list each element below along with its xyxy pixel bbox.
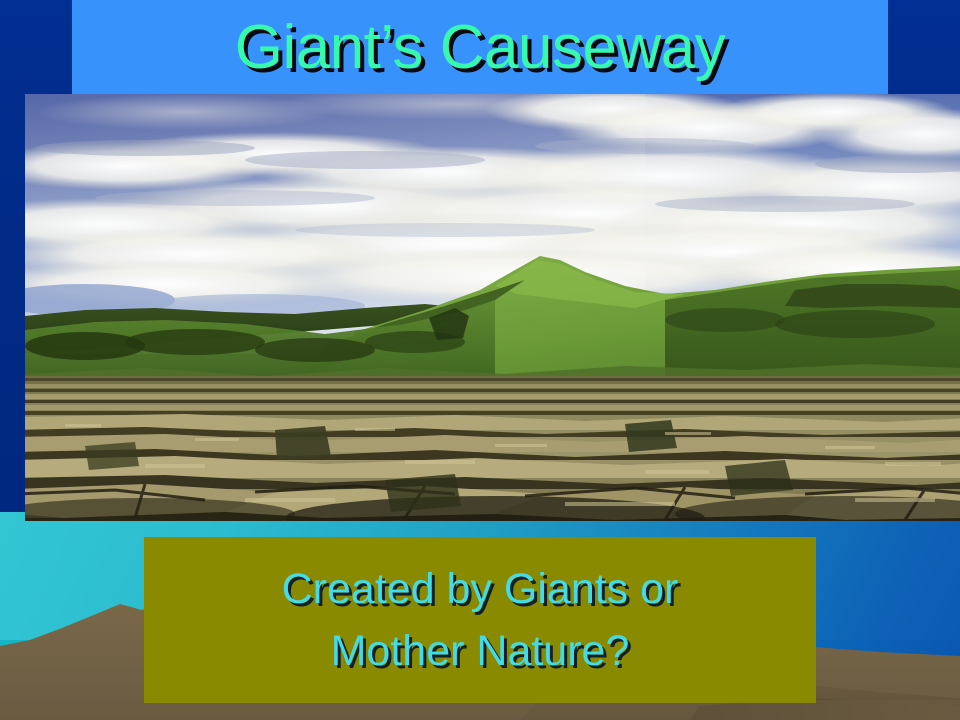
page-title: Giant’s Causeway bbox=[72, 12, 888, 84]
subtitle-line-1: Created by Giants or bbox=[282, 565, 679, 613]
presentation-slide: Giant’s Causeway bbox=[0, 0, 960, 720]
subtitle-text: Created by Giants or Mother Nature? bbox=[268, 558, 693, 682]
subtitle-line-2: Mother Nature? bbox=[331, 627, 630, 675]
causeway-photo bbox=[25, 94, 960, 521]
subtitle-box: Created by Giants or Mother Nature? bbox=[144, 537, 816, 703]
